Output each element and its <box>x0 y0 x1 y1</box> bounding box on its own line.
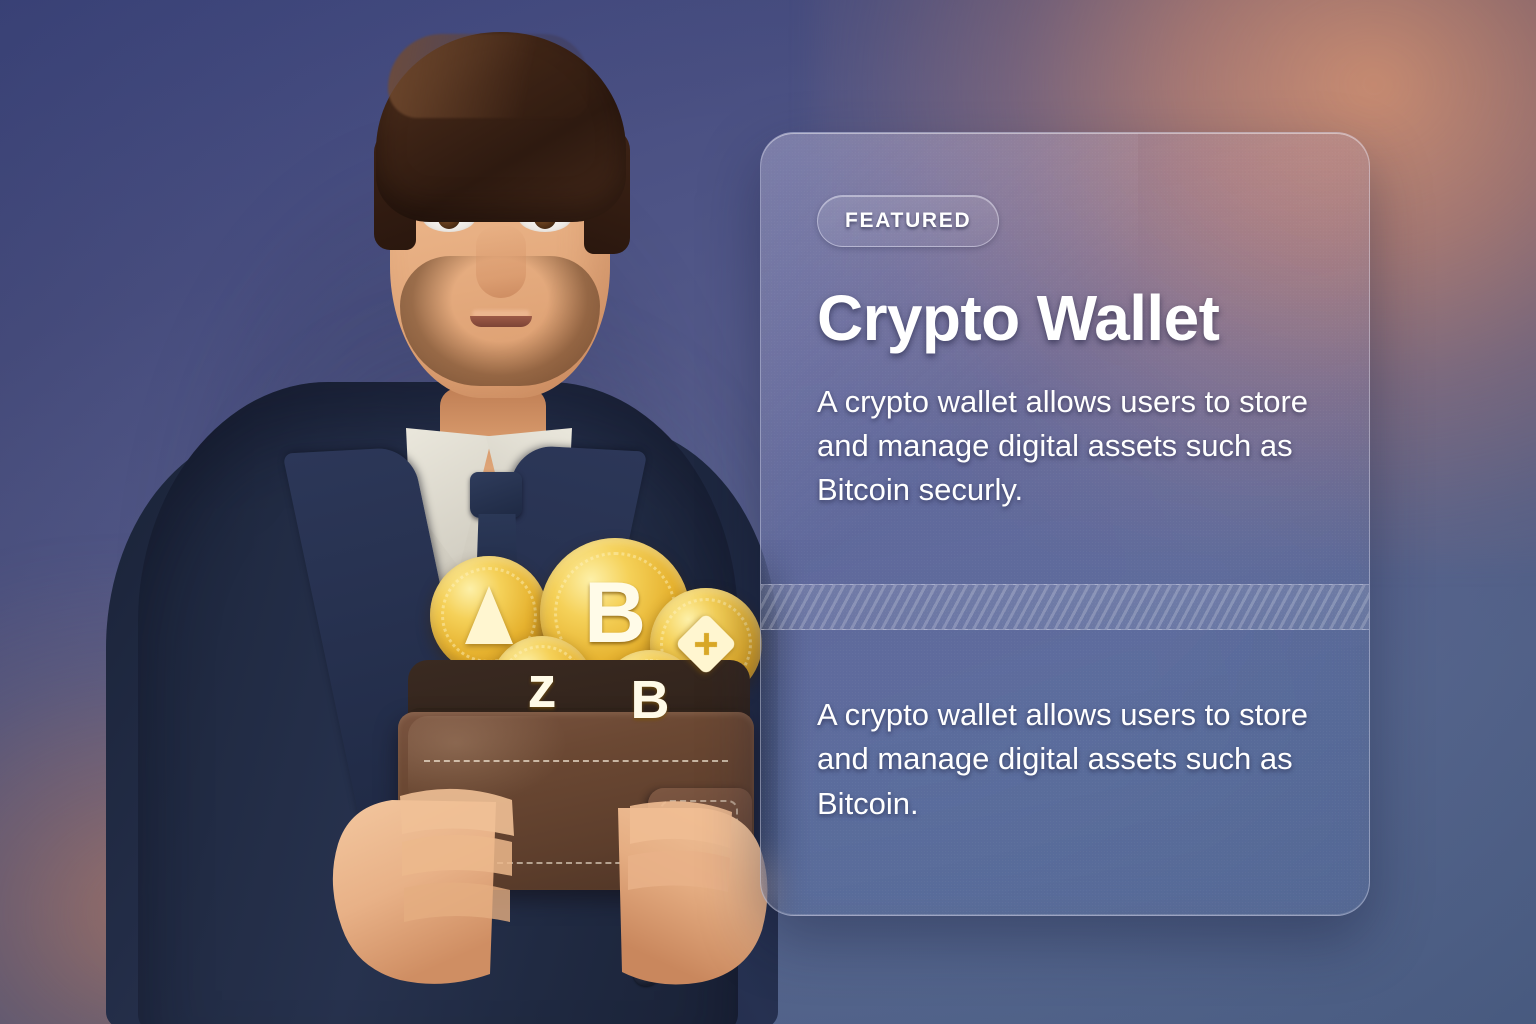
bitcoin-small-icon: B <box>631 673 670 727</box>
suit-button <box>633 960 659 986</box>
card-lower-section: A crypto wallet allows users to store an… <box>817 693 1327 826</box>
hair-highlight <box>388 34 588 118</box>
necktie-knot <box>470 472 522 518</box>
card-title: Crypto Wallet <box>817 285 1317 352</box>
featured-badge[interactable]: FEATURED <box>817 195 999 247</box>
card-hatched-divider <box>761 584 1369 630</box>
wallet-stitching-top <box>424 760 728 762</box>
screenshot-root: B z B <box>0 0 1536 1024</box>
nose <box>476 226 526 298</box>
feature-card: FEATURED Crypto Wallet A crypto wallet a… <box>760 132 1370 916</box>
card-content: FEATURED Crypto Wallet A crypto wallet a… <box>761 133 1369 513</box>
leather-wallet <box>398 660 760 922</box>
zcash-icon: z <box>528 659 557 717</box>
card-description-primary: A crypto wallet allows users to store an… <box>817 380 1317 513</box>
wallet-strap-stitching <box>660 800 738 860</box>
ethereum-icon <box>465 586 513 644</box>
plus-icon <box>693 631 719 657</box>
mouth <box>470 316 532 327</box>
bitcoin-icon: B <box>584 570 646 656</box>
card-description-secondary: A crypto wallet allows users to store an… <box>817 693 1327 826</box>
featured-badge-label: FEATURED <box>845 209 971 233</box>
